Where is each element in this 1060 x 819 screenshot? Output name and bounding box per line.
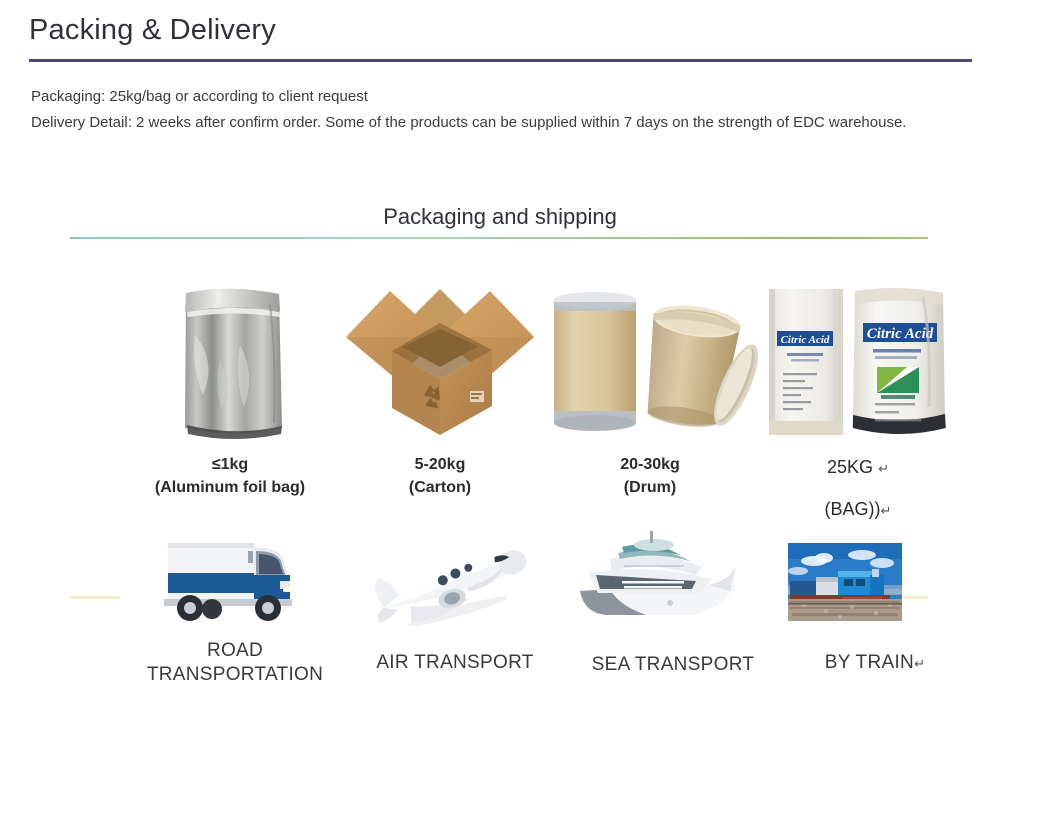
section-title: Packaging and shipping [0,204,1000,230]
shipping-item-train: BY TRAIN↵ [760,525,990,676]
packaging-type: (Aluminum foil bag) [155,479,305,496]
shipping-item-sea: SEA TRANSPORT [558,525,788,677]
delivery-truck-image [120,525,350,635]
fiber-drum-image [540,275,760,445]
packaging-item-bag: Citric Acid Citric Acid [748,275,968,531]
return-mark-icon: ↵ [881,503,892,518]
shipping-row: ROAD TRANSPORTATION [60,525,1000,715]
shipping-label: SEA TRANSPORT [558,653,788,677]
packaging-item-carton: 5-20kg (Carton) [330,275,550,499]
delivery-line: Delivery Detail: 2 weeks after confirm o… [31,110,981,136]
shipping-label: BY TRAIN↵ [760,651,990,676]
packaging-item-foil-bag: ≤1kg (Aluminum foil bag) [120,275,340,499]
packaging-weight: ≤1kg [212,456,248,473]
svg-text:Citric Acid: Citric Acid [781,334,830,346]
shipping-label-text: BY TRAIN [825,652,914,673]
return-mark-icon: ↵ [914,656,925,671]
freight-train-photo [760,525,990,635]
packaging-row: ≤1kg (Aluminum foil bag) [0,275,1000,525]
svg-text:Citric Acid: Citric Acid [867,326,934,342]
page-title: Packing & Delivery [29,14,276,47]
packaging-line: Packaging: 25kg/bag or according to clie… [31,84,981,110]
shipping-label: AIR TRANSPORT [340,651,570,675]
intro-text: Packaging: 25kg/bag or according to clie… [31,84,981,136]
packaging-type: (BAG)) [825,499,881,519]
aluminum-foil-bag-image [120,275,340,445]
section-divider [70,237,928,239]
shipping-item-road: ROAD TRANSPORTATION [120,525,350,687]
shipping-label: ROAD [120,639,350,663]
airplane-image [340,525,570,635]
shipping-item-air: AIR TRANSPORT [340,525,570,675]
title-divider-rule [29,59,972,62]
packaging-weight: 5-20kg [415,456,466,473]
packaging-weight: 25KG [827,457,873,477]
packaging-item-drum: 20-30kg (Drum) [540,275,760,499]
packaging-type: (Drum) [624,479,676,496]
packaging-type: (Carton) [409,479,471,496]
citric-acid-bags-image: Citric Acid Citric Acid [763,275,953,445]
packaging-weight: 20-30kg [620,456,680,473]
shipping-label-line2: TRANSPORTATION [120,663,350,687]
return-mark-icon: ↵ [878,461,889,476]
carton-box-image [330,275,550,445]
cargo-ship-image [558,525,788,635]
